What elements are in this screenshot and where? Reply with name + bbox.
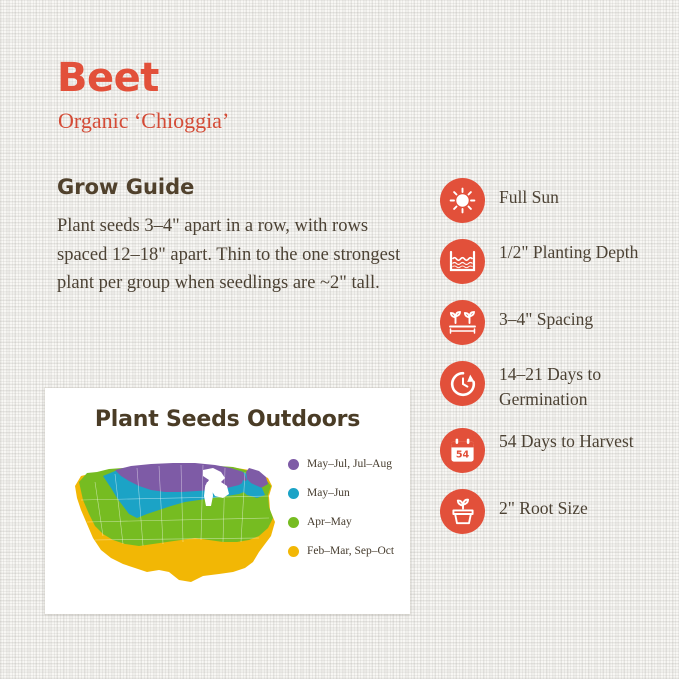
spacing-icon [440,300,485,345]
calendar-icon: 54 [440,428,485,473]
plant-pot-icon [440,489,485,534]
grow-guide-body: Plant seeds 3–4" apart in a row, with ro… [57,212,402,298]
legend-item: Apr–May [288,516,408,528]
legend-swatch-apr-may [288,517,299,528]
clock-icon [440,361,485,406]
spec-item-spacing: 3–4" Spacing [440,300,670,345]
legend-item: Feb–Mar, Sep–Oct [288,545,408,557]
spec-item-days-to-harvest: 54 54 Days to Harvest [440,428,670,473]
spec-item-root-size: 2" Root Size [440,489,670,534]
spec-label: Full Sun [499,178,559,210]
spec-label: 3–4" Spacing [499,300,593,332]
legend-label: Apr–May [307,516,352,528]
sun-icon [440,178,485,223]
grow-guide-heading: Grow Guide [57,175,194,199]
map-card-title: Plant Seeds Outdoors [45,407,410,432]
legend-item: May–Jun [288,487,408,499]
legend-label: May–Jun [307,487,350,499]
legend-label: May–Jul, Jul–Aug [307,458,392,470]
spec-item-planting-depth: 1/2" Planting Depth [440,239,670,284]
page-subtitle: Organic ‘Chioggia’ [58,108,229,134]
planting-depth-icon [440,239,485,284]
legend-item: May–Jul, Jul–Aug [288,458,408,470]
spec-label: 1/2" Planting Depth [499,239,638,265]
spec-item-full-sun: Full Sun [440,178,670,223]
page-title: Beet [57,56,159,100]
legend-swatch-may-jul-jul-aug [288,459,299,470]
growing-spec-list: Full Sun 1/2" Planting Depth [440,178,670,550]
us-planting-zone-map [63,452,278,592]
plant-seeds-outdoors-card: Plant Seeds Outdoors [45,388,410,614]
legend-swatch-may-jun [288,488,299,499]
spec-item-germination: 14–21 Days to Germination [440,361,670,412]
calendar-day-count: 54 [456,450,470,461]
legend-label: Feb–Mar, Sep–Oct [307,545,394,557]
spec-label: 14–21 Days to Germination [499,361,670,412]
legend-swatch-feb-mar-sep-oct [288,546,299,557]
spec-label: 54 Days to Harvest [499,428,634,454]
map-legend: May–Jul, Jul–Aug May–Jun Apr–May Feb–Mar… [288,458,408,574]
spec-label: 2" Root Size [499,489,588,521]
